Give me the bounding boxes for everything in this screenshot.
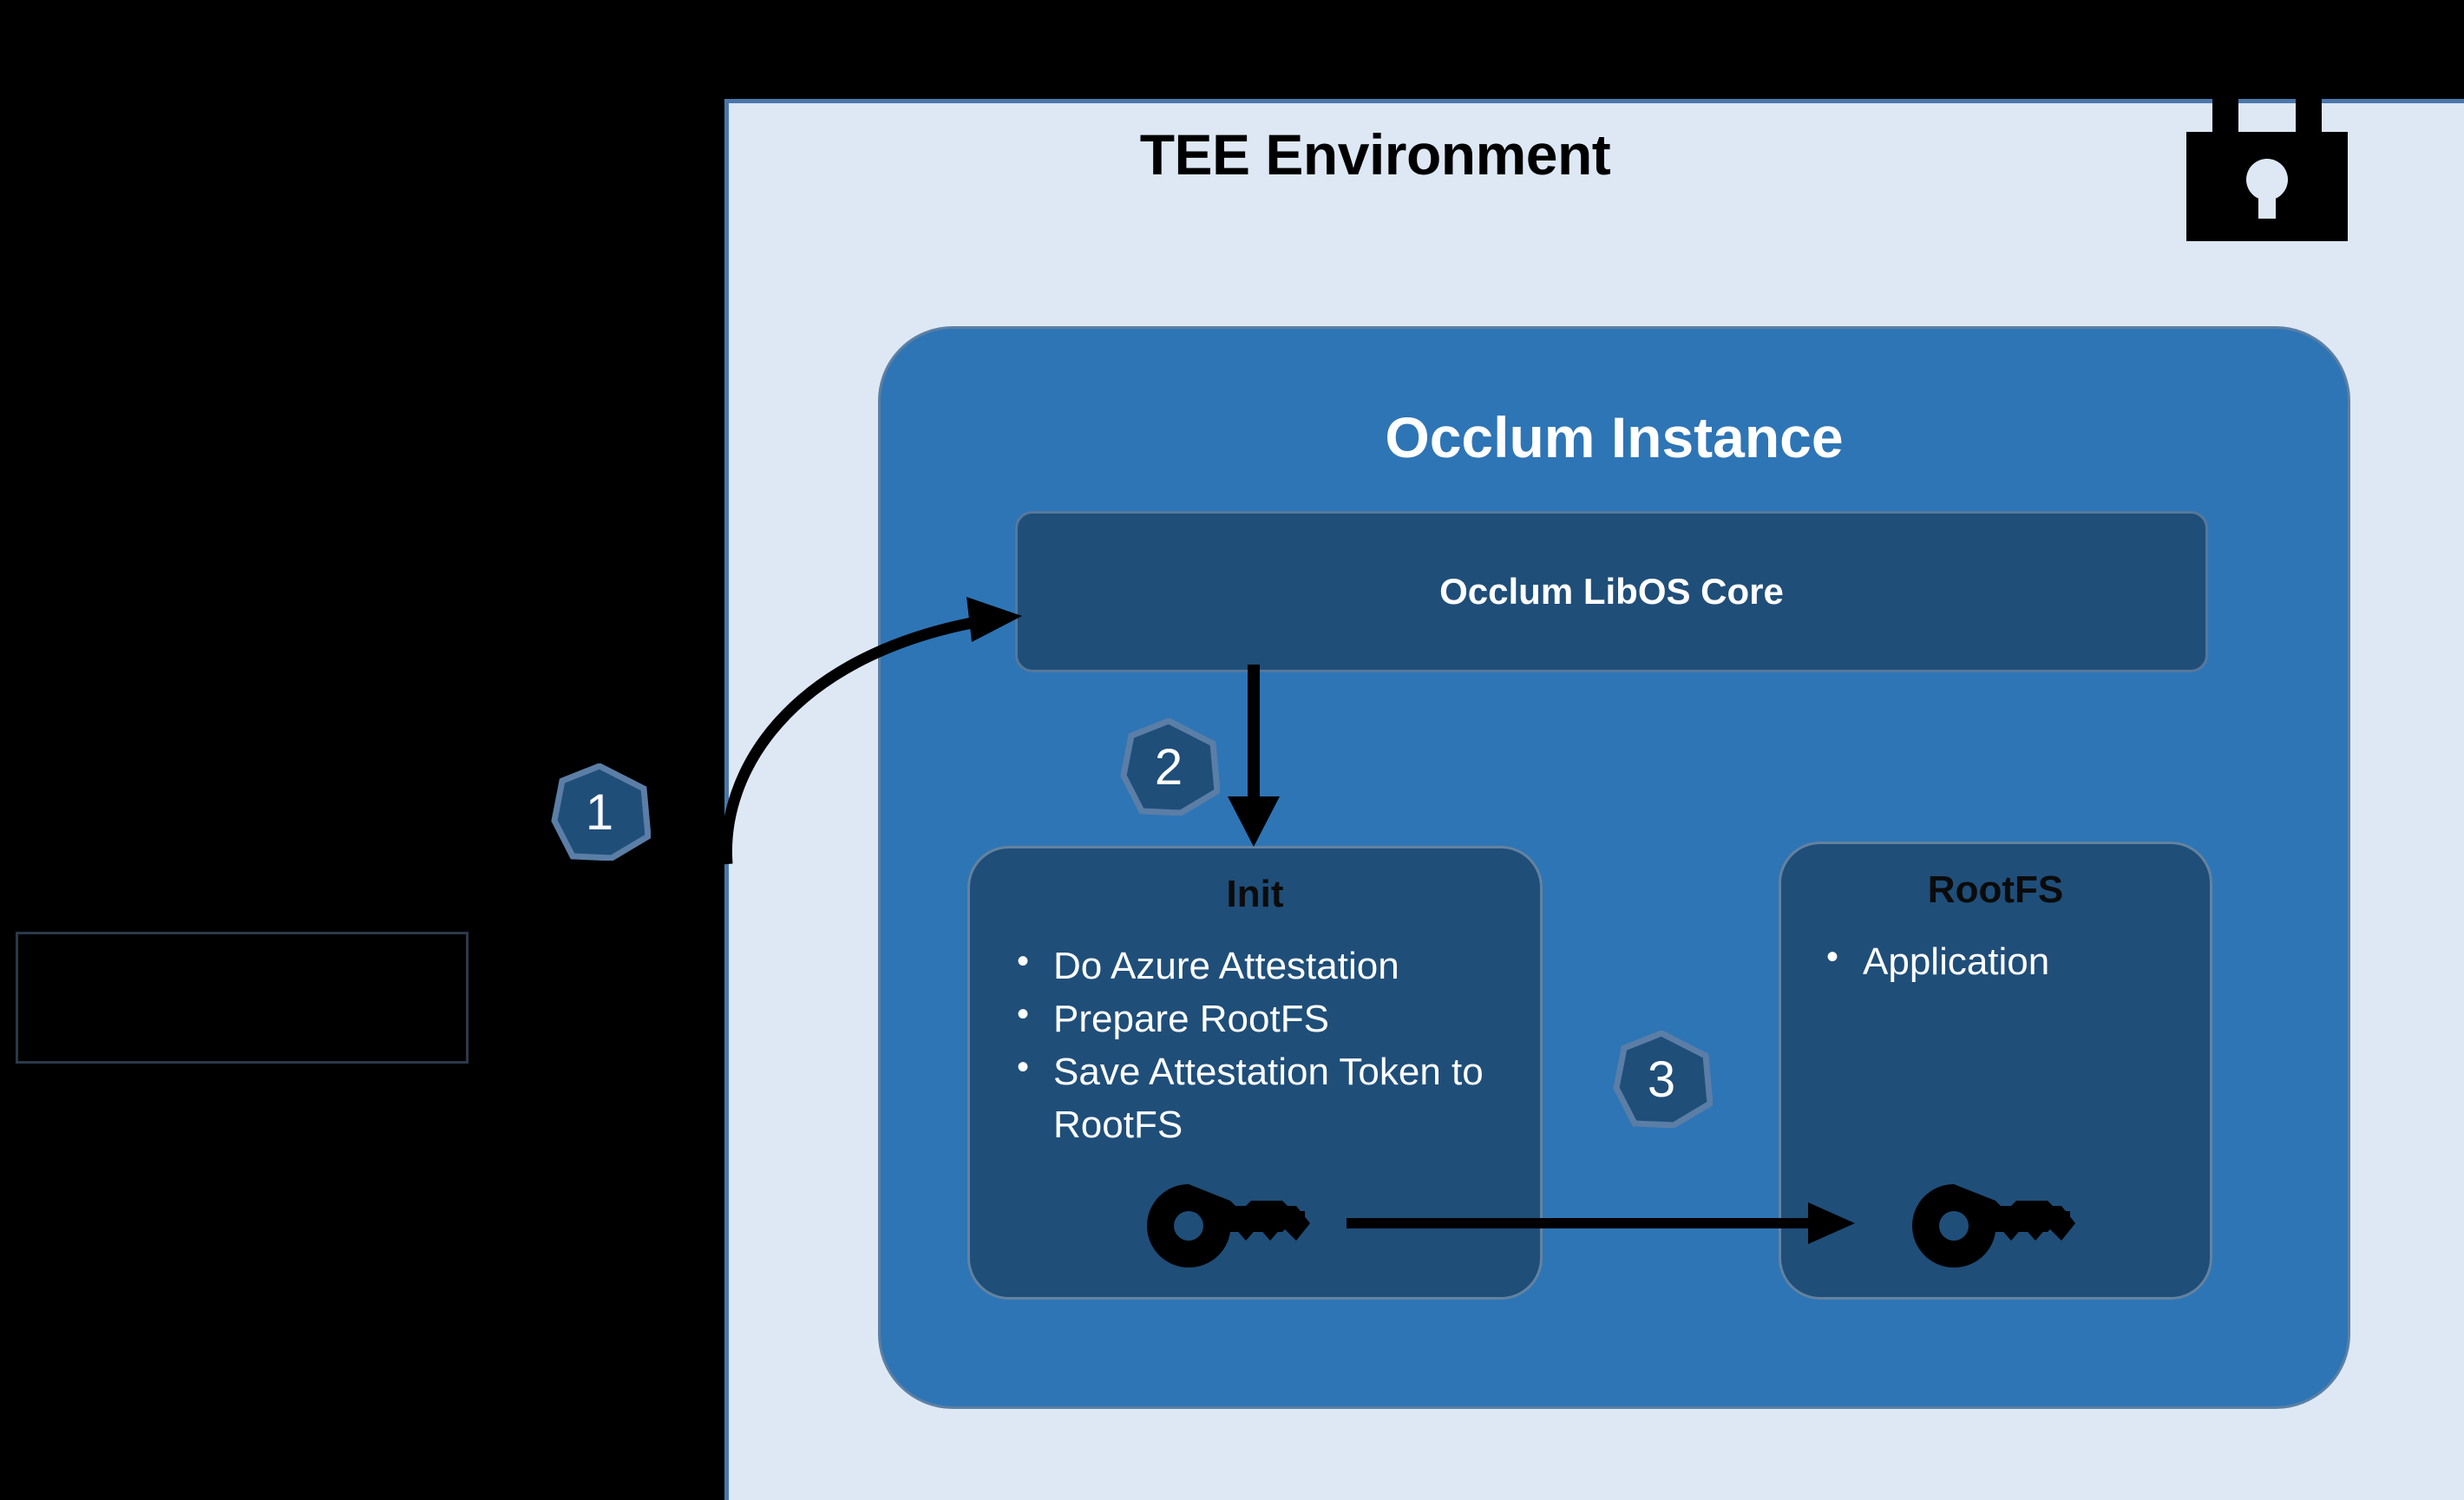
- init-title: Init: [970, 873, 1540, 916]
- heptagon-shape-icon: [1610, 1031, 1713, 1128]
- step-badge-2: 2: [1117, 718, 1220, 816]
- key-icon: [1909, 1178, 2078, 1274]
- rootfs-bullet-item: Application: [1807, 935, 2189, 988]
- padlock-icon: [2167, 61, 2367, 260]
- occlum-libos-core-box: Occlum LibOS Core: [1015, 511, 2208, 672]
- diagram-canvas: TEE Environment Occlum Instance Occlum L…: [0, 0, 2464, 1500]
- step-badge-3: 3: [1610, 1031, 1713, 1128]
- init-bullet-item: Save Attestation Token to RootFS: [998, 1045, 1518, 1151]
- curved-arrow-into-libos: [685, 555, 1050, 868]
- step-badge-1: 1: [548, 763, 651, 861]
- heptagon-shape-icon: [548, 763, 651, 861]
- init-bullet-list: Do Azure Attestation Prepare RootFS Save…: [998, 940, 1518, 1152]
- rootfs-bullet-list: Application: [1807, 935, 2189, 988]
- right-arrow-init-to-rootfs: [1345, 1197, 1857, 1249]
- down-arrow-libos-to-init: [1210, 661, 1306, 852]
- tee-environment-title: TEE Environment: [724, 121, 2026, 187]
- init-bullet-item: Do Azure Attestation: [998, 940, 1518, 992]
- init-bullet-item: Prepare RootFS: [998, 992, 1518, 1045]
- rootfs-title: RootFS: [1781, 868, 2210, 912]
- key-icon: [1144, 1178, 1313, 1274]
- occlum-libos-core-label: Occlum LibOS Core: [1018, 514, 2205, 670]
- empty-placeholder-rectangle: [16, 932, 469, 1064]
- heptagon-shape-icon: [1117, 718, 1220, 816]
- occlum-instance-title: Occlum Instance: [878, 404, 2350, 470]
